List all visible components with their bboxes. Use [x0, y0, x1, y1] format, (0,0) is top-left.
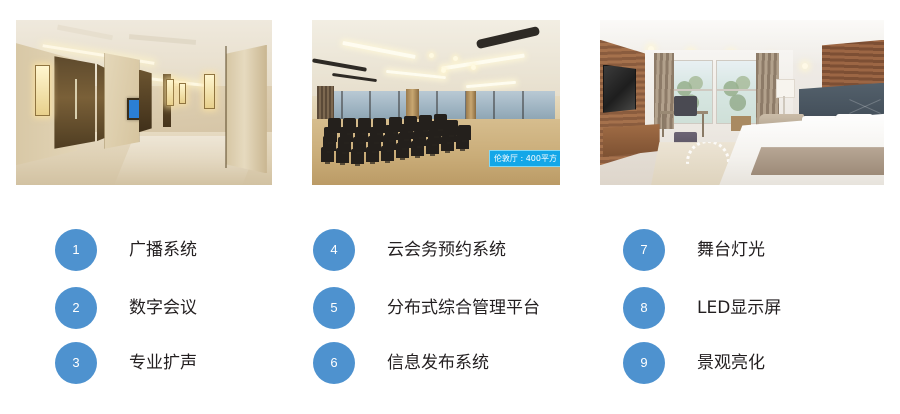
feature-number-badge: 7	[623, 229, 665, 271]
feature-item-1[interactable]: 1 广播系统	[55, 229, 197, 271]
feature-label: 云会务预约系统	[387, 240, 506, 261]
chair-rows	[317, 112, 505, 171]
feature-item-3[interactable]: 3 专业扩声	[55, 342, 197, 384]
door-handle	[75, 79, 77, 119]
feature-label: 广播系统	[129, 240, 197, 261]
feature-label: 信息发布系统	[387, 353, 489, 374]
feature-number-badge: 5	[313, 287, 355, 329]
photo-conference-hall[interactable]: 伦敦厅 : 400平方	[312, 20, 560, 185]
column-edge	[225, 46, 227, 168]
feature-item-8[interactable]: 8 LED显示屏	[623, 287, 781, 329]
wall-sconce	[179, 83, 186, 105]
ceiling-downlight	[429, 53, 434, 58]
marble-column-right	[226, 45, 267, 174]
ceiling-downlight	[802, 63, 808, 69]
feature-list: 1 广播系统 2 数字会议 3 专业扩声 4 云会务预约系统 5 分布式综合管理…	[0, 200, 900, 414]
feature-number-badge: 3	[55, 342, 97, 384]
feature-item-5[interactable]: 5 分布式综合管理平台	[313, 287, 540, 329]
wall-sconce	[35, 65, 50, 117]
feature-label: 专业扩声	[129, 353, 197, 374]
desk-leg	[702, 114, 704, 137]
elevator-door	[97, 56, 106, 148]
feature-number-badge: 1	[55, 229, 97, 271]
feature-item-6[interactable]: 6 信息发布系统	[313, 342, 489, 384]
feature-item-9[interactable]: 9 景观亮化	[623, 342, 765, 384]
room-window	[716, 60, 761, 125]
feature-number-badge: 2	[55, 287, 97, 329]
feature-item-2[interactable]: 2 数字会议	[55, 287, 197, 329]
photo-gallery: 伦敦厅 : 400平方	[0, 0, 900, 200]
bed-runner	[751, 147, 884, 175]
desk-chair	[674, 96, 697, 116]
feature-label: 分布式综合管理平台	[387, 298, 540, 319]
ceiling-downlight	[441, 68, 446, 73]
feature-item-7[interactable]: 7 舞台灯光	[623, 229, 765, 271]
window-mullion	[717, 89, 760, 91]
feature-label: LED显示屏	[697, 298, 781, 319]
desk-leg	[662, 114, 664, 137]
feature-number-badge: 4	[313, 229, 355, 271]
wall-sconce	[204, 74, 215, 109]
feature-number-badge: 8	[623, 287, 665, 329]
photo-guest-room[interactable]	[600, 20, 884, 185]
wall-sconce	[166, 79, 175, 106]
elevator-door	[139, 70, 152, 133]
feature-number-badge: 6	[313, 342, 355, 384]
window-mullion	[672, 89, 712, 91]
window-foliage	[720, 67, 758, 121]
feature-label: 舞台灯光	[697, 240, 765, 261]
feature-label: 数字会议	[129, 298, 197, 319]
feature-label: 景观亮化	[697, 353, 765, 374]
feature-item-4[interactable]: 4 云会务预约系统	[313, 229, 506, 271]
photo-elevator-lobby[interactable]	[16, 20, 272, 185]
ceiling-downlight	[471, 65, 476, 70]
television	[603, 65, 636, 113]
floor-lamp-shade	[776, 79, 795, 98]
hall-area-overlay-label: 伦敦厅 : 400平方	[489, 150, 560, 167]
window-mullion	[522, 91, 524, 119]
feature-number-badge: 9	[623, 342, 665, 384]
